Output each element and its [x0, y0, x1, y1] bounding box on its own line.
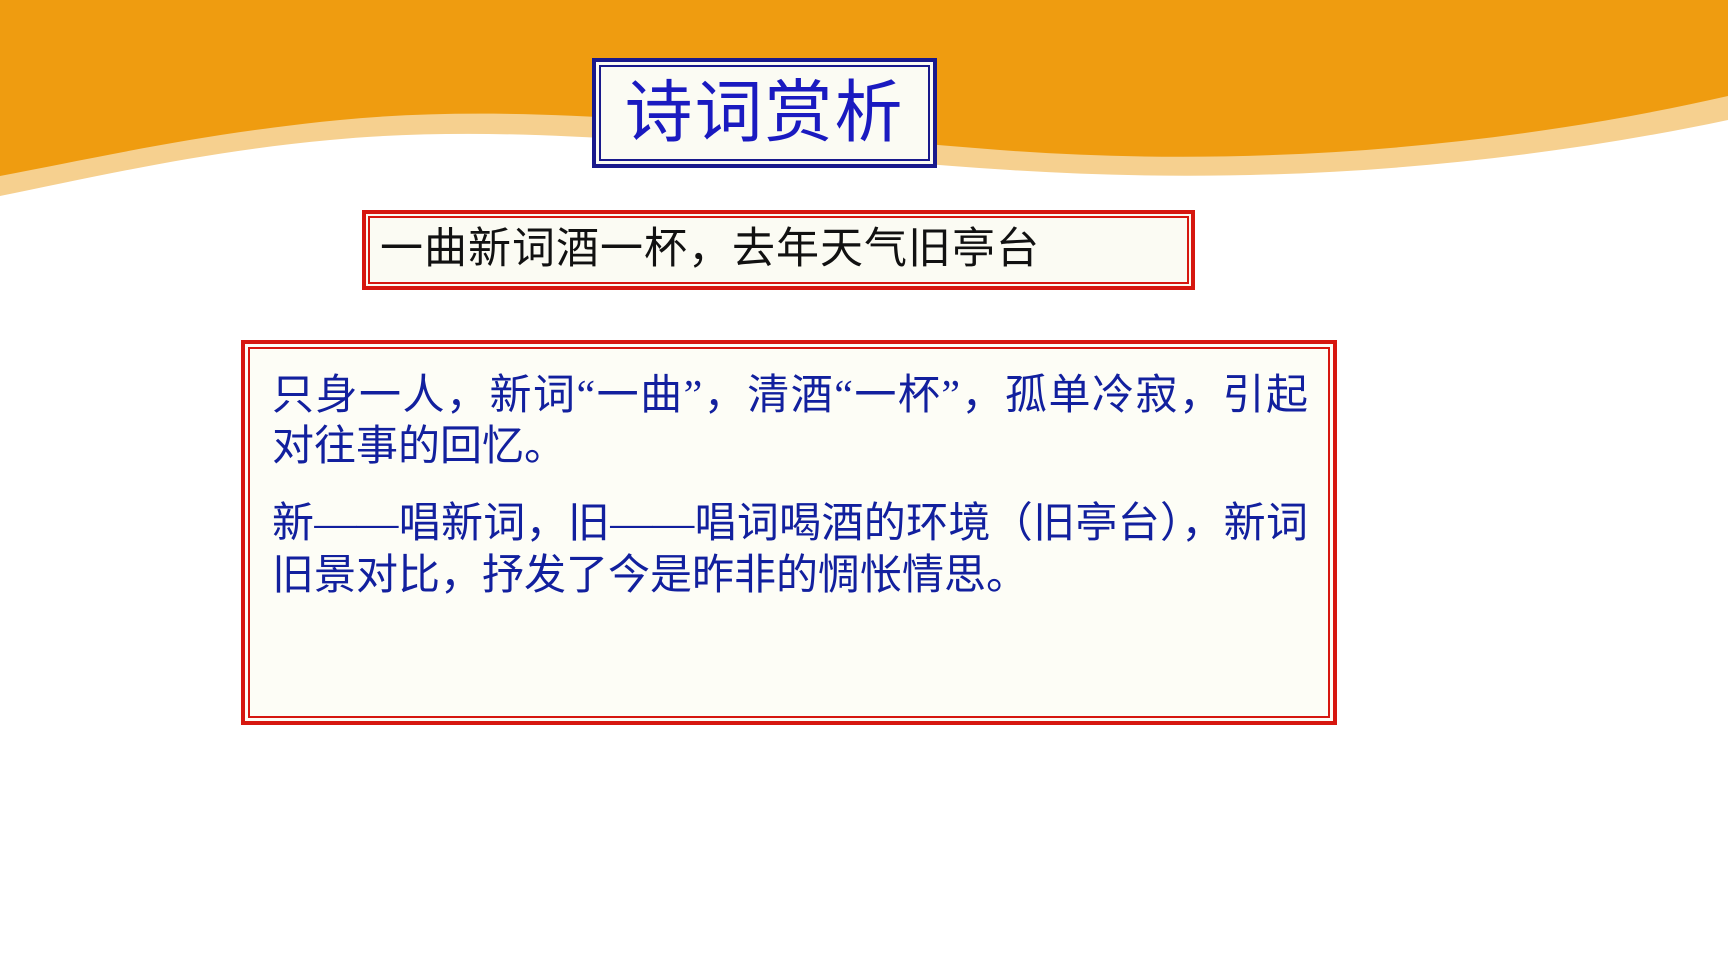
poem-quote-box: 一曲新词酒一杯，去年天气旧亭台: [362, 210, 1195, 290]
analysis-paragraph-2: 新——唱新词，旧——唱词喝酒的环境（旧亭台），新词旧景对比，抒发了今是昨非的惆怅…: [272, 499, 1308, 601]
analysis-paragraph-1: 只身一人，新词“一曲”，清酒“一杯”，孤单冷寂，引起对往事的回忆。: [272, 371, 1308, 473]
analysis-box: 只身一人，新词“一曲”，清酒“一杯”，孤单冷寂，引起对往事的回忆。 新——唱新词…: [241, 340, 1337, 725]
poem-quote-box-inner-border: 一曲新词酒一杯，去年天气旧亭台: [368, 216, 1189, 284]
title-box-inner-border: 诗词赏析: [599, 65, 930, 161]
title-box: 诗词赏析: [592, 58, 937, 168]
page-title: 诗词赏析: [624, 79, 904, 147]
poem-line: 一曲新词酒一杯，去年天气旧亭台: [380, 227, 1040, 272]
slide-canvas: 诗词赏析 一曲新词酒一杯，去年天气旧亭台 只身一人，新词“一曲”，清酒“一杯”，…: [0, 0, 1728, 972]
analysis-box-inner-border: 只身一人，新词“一曲”，清酒“一杯”，孤单冷寂，引起对往事的回忆。 新——唱新词…: [248, 347, 1330, 718]
